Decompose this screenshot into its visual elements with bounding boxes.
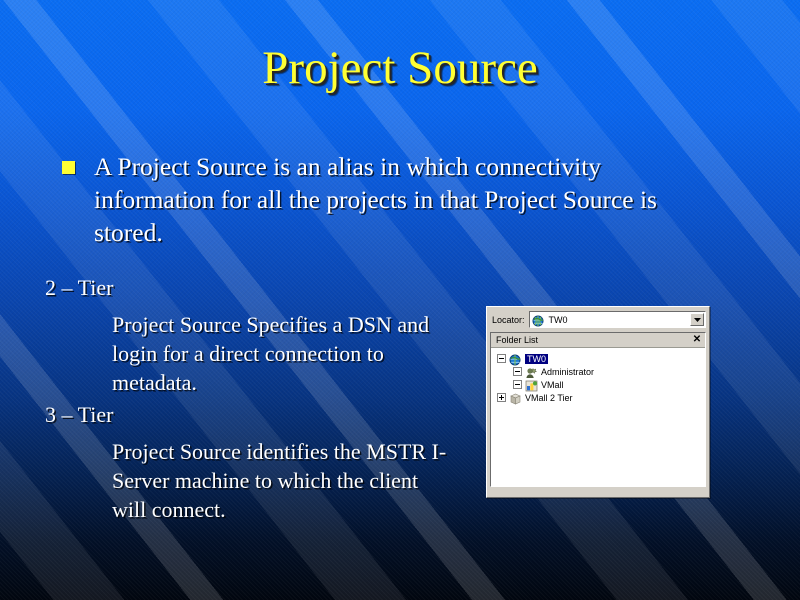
close-icon[interactable]: ✕ <box>691 334 703 346</box>
user-admin-icon <box>525 366 538 378</box>
chevron-down-icon[interactable] <box>690 313 704 326</box>
section-body-3-tier: Project Source identifies the MSTR I-Ser… <box>112 437 452 524</box>
expand-toggle-icon[interactable] <box>497 393 506 402</box>
folder-tree[interactable]: TW0 Administrator <box>491 348 705 486</box>
tree-item-label: VMall 2 Tier <box>525 393 573 403</box>
locator-value: TW0 <box>549 315 568 325</box>
collapse-toggle-icon[interactable] <box>497 354 506 363</box>
section-heading-3-tier: 3 – Tier <box>45 402 113 428</box>
tree-item-label: VMall <box>541 380 564 390</box>
tree-item-vmall[interactable]: VMall <box>497 378 705 391</box>
tree-item-label: TW0 <box>525 354 548 364</box>
collapse-toggle-icon[interactable] <box>513 380 522 389</box>
section-body-2-tier: Project Source Specifies a DSN and login… <box>112 310 452 397</box>
project-source-dialog: Locator: TW0 Folder List <box>486 306 710 498</box>
folder-list-caption: Folder List ✕ <box>491 333 705 348</box>
locator-row: Locator: TW0 <box>490 311 706 328</box>
tree-item-tw0[interactable]: TW0 <box>497 352 705 365</box>
globe-icon <box>509 353 522 365</box>
folder-list-pane: Folder List ✕ TW0 <box>490 332 706 487</box>
tree-item-label: Administrator <box>541 367 594 377</box>
section-heading-2-tier: 2 – Tier <box>45 275 113 301</box>
globe-icon <box>532 314 545 326</box>
locator-label: Locator: <box>492 315 525 325</box>
project-icon <box>525 379 538 391</box>
locator-combobox[interactable]: TW0 <box>529 311 706 328</box>
slide-canvas: Project Source A Project Source is an al… <box>0 0 800 600</box>
bullet-item-text: A Project Source is an alias in which co… <box>94 150 712 249</box>
bullet-square-icon <box>62 161 75 174</box>
bullet-item: A Project Source is an alias in which co… <box>62 150 712 249</box>
server-box-icon <box>509 392 522 404</box>
folder-list-title: Folder List <box>496 335 691 345</box>
tree-item-administrator[interactable]: Administrator <box>497 365 705 378</box>
tree-item-vmall-2-tier[interactable]: VMall 2 Tier <box>497 391 705 404</box>
page-title: Project Source <box>0 44 800 93</box>
collapse-toggle-icon[interactable] <box>513 367 522 376</box>
